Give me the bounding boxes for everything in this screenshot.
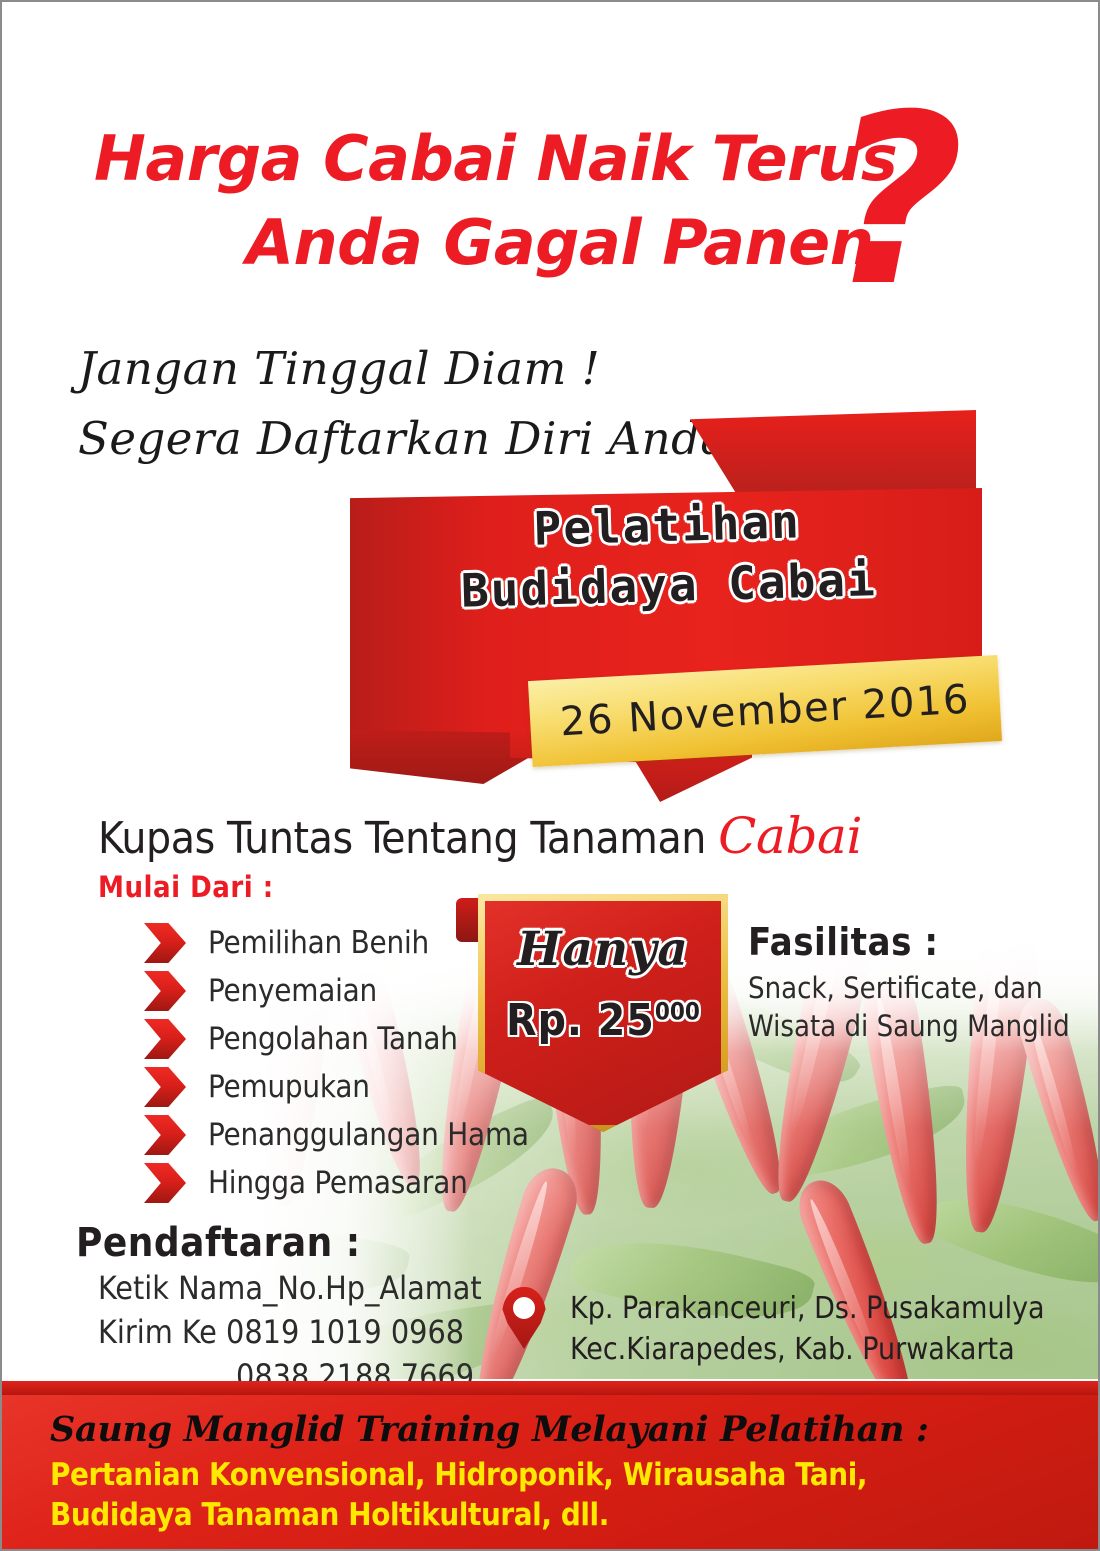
registration-phone-1: Kirim Ke 0819 1019 0968: [76, 1310, 546, 1354]
list-item-label: Hingga Pemasaran: [208, 1165, 468, 1201]
chevron-right-icon: [144, 1019, 186, 1059]
list-item: Hingga Pemasaran: [144, 1160, 564, 1206]
facilities-line-1: Snack, Sertificate, dan: [748, 970, 1068, 1008]
badge-label: Hanya: [517, 922, 689, 977]
poster-root: Harga Cabai Naik Terus Anda Gagal Panen …: [0, 0, 1100, 1551]
registration-format: Ketik Nama_No.Hp_Alamat: [76, 1266, 546, 1310]
topic-lead-text: Kupas Tuntas Tentang Tanaman: [98, 813, 718, 864]
list-item-label: Pemupukan: [208, 1069, 370, 1105]
address-line-2: Kec.Kiarapedes, Kab. Purwakarta: [570, 1329, 1070, 1370]
headline-line-1: Harga Cabai Naik Terus: [76, 120, 916, 198]
address-line-1: Kp. Parakanceuri, Ds. Pusakamulya: [570, 1288, 1070, 1329]
question-mark-icon: ?: [828, 84, 964, 319]
chevron-right-icon: [144, 923, 186, 963]
facilities-block: Fasilitas : Snack, Sertificate, dan Wisa…: [748, 920, 1068, 1045]
facilities-title: Fasilitas :: [748, 920, 1068, 964]
badge-superscript: 000: [655, 997, 700, 1025]
map-pin-hole: [513, 1297, 535, 1319]
list-label: Mulai Dari :: [98, 870, 274, 904]
facilities-line-2: Wisata di Saung Manglid: [748, 1008, 1068, 1046]
chevron-right-icon: [144, 1067, 186, 1107]
page-title: Harga Cabai Naik Terus Anda Gagal Panen: [76, 120, 916, 281]
badge-currency: Rp.: [506, 995, 598, 1046]
footer-line-2: Budidaya Tanaman Holtikultural, dll.: [50, 1496, 1098, 1536]
price-badge: Hanya Rp. 25000: [470, 894, 728, 1132]
list-item-label: Pengolahan Tanah: [208, 1021, 458, 1057]
chevron-right-icon: [144, 1163, 186, 1203]
map-pin-icon: [502, 1287, 546, 1349]
list-item-label: Penyemaian: [208, 973, 377, 1009]
footer-bar: Saung Manglid Training Melayani Pelatiha…: [2, 1381, 1098, 1549]
badge-content: Hanya Rp. 25000: [478, 894, 728, 1132]
registration-block: Pendaftaran : Ketik Nama_No.Hp_Alamat Ki…: [76, 1220, 546, 1398]
topic-accent-word: Cabai: [718, 807, 862, 865]
badge-price: Rp. 25000: [506, 995, 700, 1046]
footer-content: Saung Manglid Training Melayani Pelatiha…: [2, 1395, 1098, 1549]
badge-amount: 25: [598, 995, 655, 1046]
ribbon-title: Pelatihan Budidaya Cabai: [360, 487, 975, 624]
chevron-right-icon: [144, 1115, 186, 1155]
chevron-right-icon: [144, 971, 186, 1011]
event-ribbon-banner: Pelatihan Budidaya Cabai 26 November 201…: [342, 410, 982, 802]
list-item-label: Pemilihan Benih: [208, 925, 429, 961]
topic-headline: Kupas Tuntas Tentang Tanaman Cabai: [98, 807, 862, 865]
subheading-line-1: Jangan Tinggal Diam !: [78, 334, 728, 404]
address-block: Kp. Parakanceuri, Ds. Pusakamulya Kec.Ki…: [570, 1288, 1070, 1371]
footer-heading: Saung Manglid Training Melayani Pelatiha…: [50, 1409, 1098, 1450]
headline-line-2: Anda Gagal Panen: [76, 204, 916, 282]
footer-top-strip: [2, 1381, 1098, 1395]
footer-line-1: Pertanian Konvensional, Hidroponik, Wira…: [50, 1456, 1098, 1496]
registration-title: Pendaftaran :: [76, 1220, 546, 1266]
